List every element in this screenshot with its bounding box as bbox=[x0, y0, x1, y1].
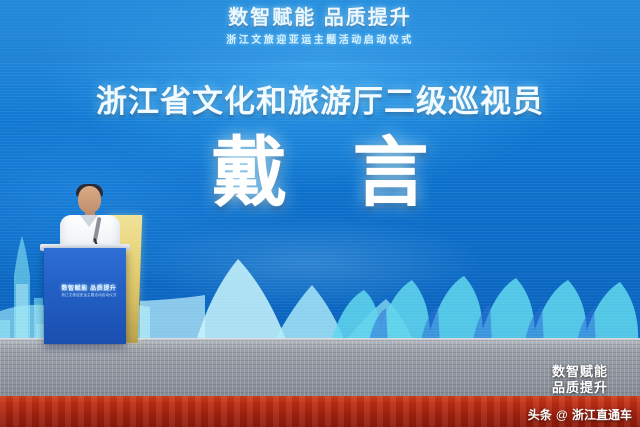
corner-logo-line2: 品质提升 bbox=[528, 380, 632, 396]
podium-logo-line1: 数智赋能 品质提升 bbox=[58, 286, 120, 293]
speaker-role-title: 浙江省文化和旅游厅二级巡视员 bbox=[0, 84, 640, 120]
corner-event-logo: 数智赋能 品质提升 bbox=[528, 364, 632, 396]
podium-logo-line2: 浙江文旅迎亚运主题活动启动仪式 bbox=[58, 293, 120, 298]
screenshot-root: 数智赋能 品质提升 浙江文旅迎亚运主题活动启动仪式 浙江省文化和旅游厅二级巡视员… bbox=[0, 0, 640, 427]
corner-logo-line1: 数智赋能 bbox=[528, 364, 632, 380]
banner-subtitle: 浙江文旅迎亚运主题活动启动仪式 bbox=[0, 35, 640, 47]
banner-main-title: 数智赋能 品质提升 bbox=[0, 7, 640, 29]
channel-watermark: 头条 @ 浙江直通车 bbox=[528, 408, 632, 422]
podium-logo: 数智赋能 品质提升 浙江文旅迎亚运主题活动启动仪式 bbox=[58, 286, 120, 298]
speaker-head bbox=[78, 186, 101, 213]
watermark-source: 头条 bbox=[528, 408, 552, 422]
watermark-account: 浙江直通车 bbox=[572, 408, 632, 422]
watermark-at-symbol: @ bbox=[556, 408, 568, 422]
event-banner: 数智赋能 品质提升 浙江文旅迎亚运主题活动启动仪式 bbox=[0, 0, 640, 62]
wave-silhouettes bbox=[330, 250, 640, 345]
